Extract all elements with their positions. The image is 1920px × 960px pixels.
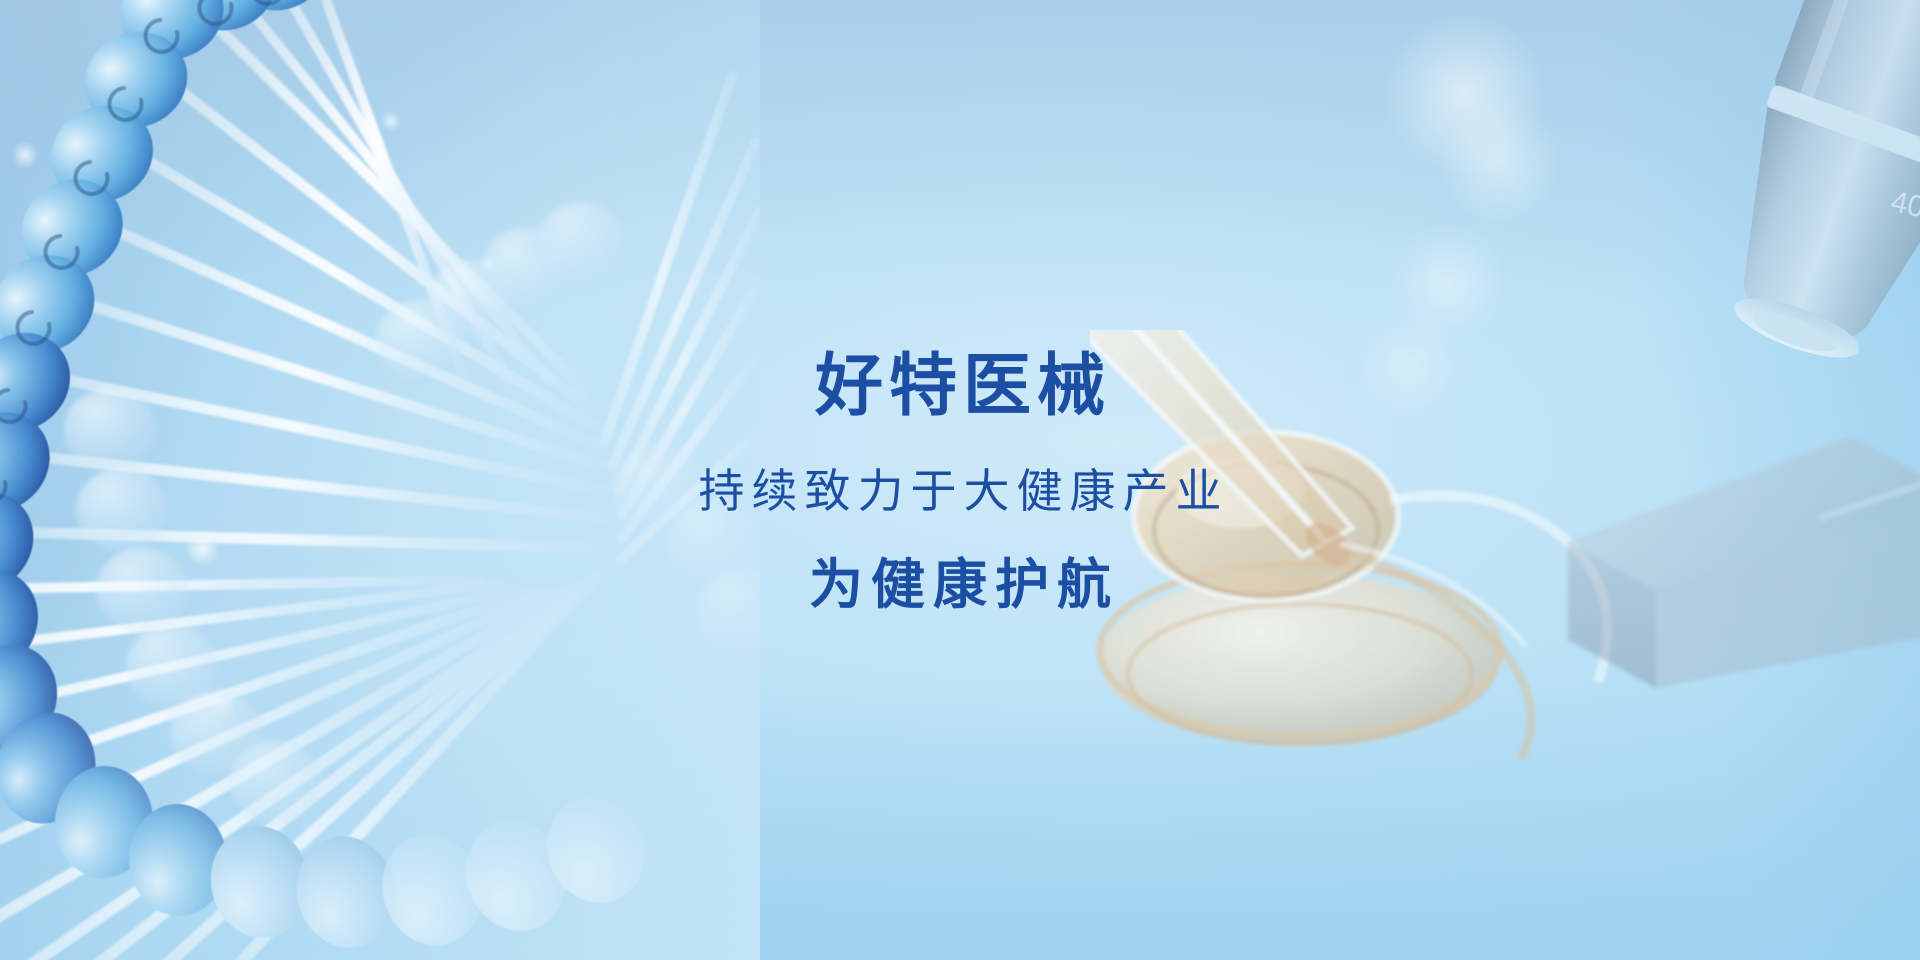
banner-text-block: 好特医械 持续致力于大健康产业 为健康护航: [0, 352, 1920, 612]
brand-tagline: 持续致力于大健康产业: [0, 468, 1920, 514]
brand-slogan: 为健康护航: [0, 558, 1920, 612]
hero-banner: 40: [0, 0, 1920, 960]
brand-title: 好特医械: [0, 352, 1920, 420]
